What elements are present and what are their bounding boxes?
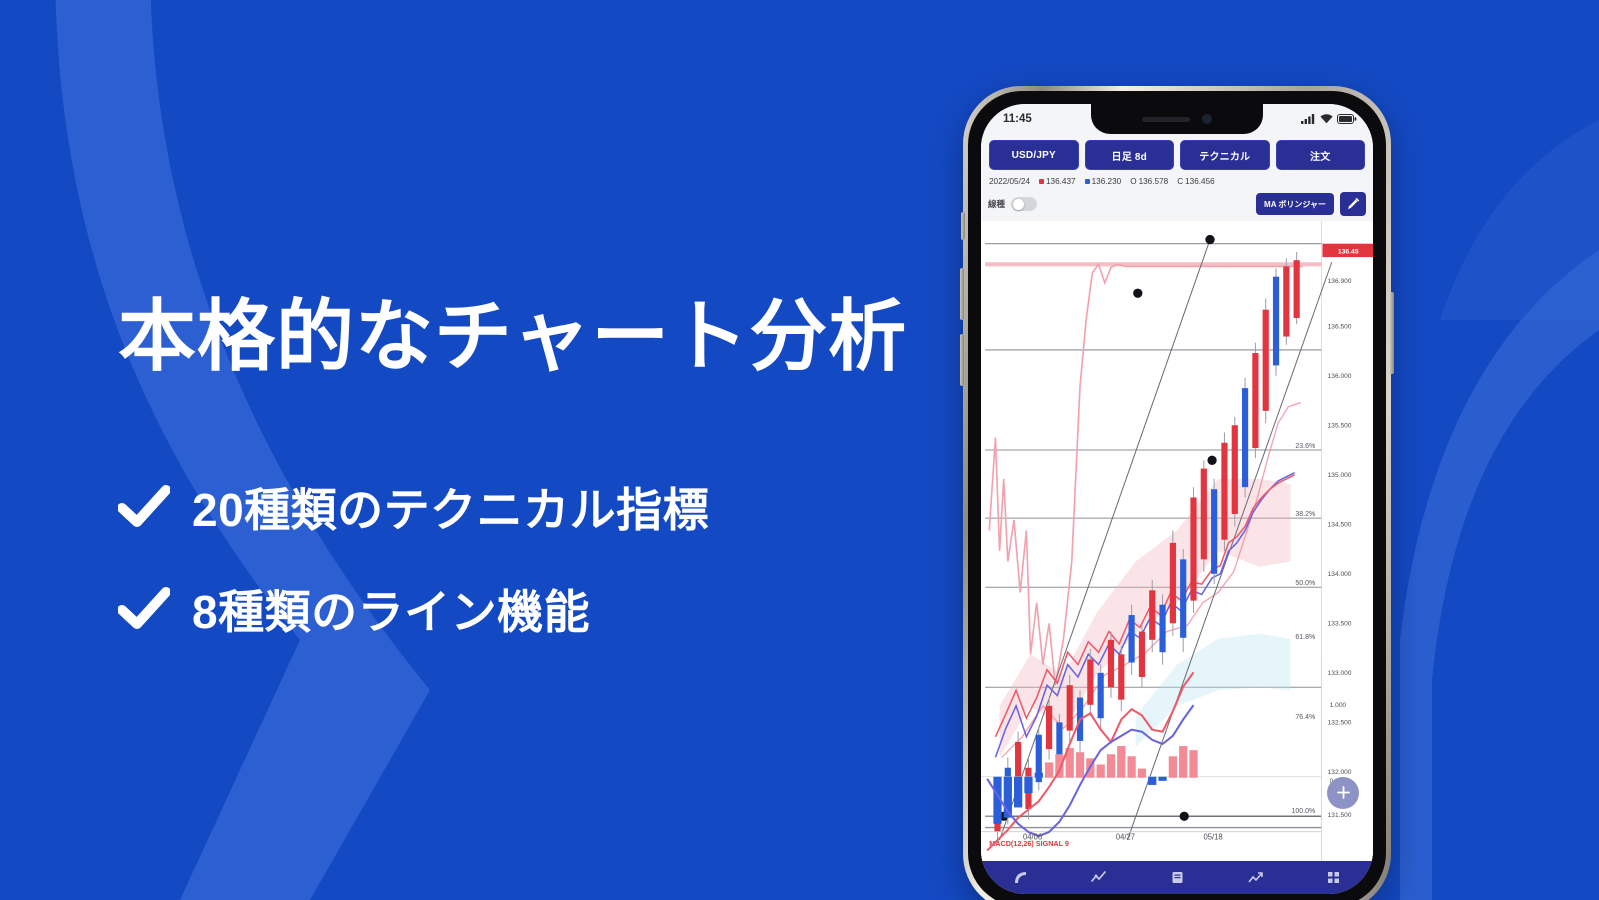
ohlc-close-label: C (1177, 177, 1183, 186)
price-label-4: 135.000 (1328, 472, 1352, 479)
chart-nav-bar: USD/JPY 日足 8d テクニカル 注文 (981, 133, 1373, 176)
symbol-button[interactable]: USD/JPY (989, 140, 1079, 170)
bottom-navigation (981, 861, 1373, 894)
price-label-1: 136.500 (1328, 324, 1352, 331)
technical-button[interactable]: テクニカル (1180, 140, 1270, 170)
date-axis: 04/06 04/27 05/18 (981, 797, 1373, 861)
ohlc-open-label: O (1130, 177, 1136, 186)
marketing-copy: 本格的なチャート分析 20種類のテクニカル指標 8種類のライン機能 (118, 296, 928, 678)
mute-switch[interactable] (961, 212, 965, 240)
nav-order-list[interactable] (1138, 869, 1216, 886)
feature-label-2: 8種類のライン機能 (192, 576, 590, 642)
fib-label-3: 61.8% (1295, 634, 1315, 641)
phone-bezel: 11:45 (968, 91, 1386, 900)
ohlc-open: 136.578 (1139, 177, 1169, 186)
macd-scale-label-0: 1.000 (1330, 702, 1347, 709)
price-label-0: 136.900 (1328, 278, 1352, 285)
current-price-tag: 136.45 (1338, 249, 1359, 256)
nav-news[interactable] (1216, 869, 1294, 886)
trend-handle-top[interactable] (1205, 235, 1214, 244)
date-label-2: 05/18 (1204, 832, 1223, 841)
price-label-5: 134.500 (1328, 522, 1352, 529)
check-icon (118, 586, 170, 632)
battery-icon (1337, 114, 1357, 124)
check-icon (118, 484, 170, 530)
rate-icon (1012, 869, 1029, 886)
toolbar-label: 線種 (988, 198, 1005, 210)
speaker-icon (1142, 117, 1190, 122)
chart-type-toggle[interactable] (1011, 197, 1037, 211)
fib-label-1: 38.2% (1295, 511, 1315, 518)
ohlc-low: 136.230 (1092, 177, 1122, 186)
toggle-knob (1013, 199, 1024, 210)
plus-icon (1336, 785, 1351, 800)
draw-tool-button[interactable] (1340, 192, 1366, 216)
status-time: 11:45 (1003, 113, 1032, 125)
power-button[interactable] (1390, 292, 1394, 374)
ohlc-high: 136.437 (1046, 177, 1076, 186)
chart-icon (1090, 869, 1107, 886)
date-label-0: 04/06 (1023, 832, 1042, 841)
trend-handle-mid[interactable] (1133, 289, 1142, 298)
indicator-chip[interactable]: MA ボリンジャー (1256, 193, 1334, 215)
nav-chart[interactable] (1059, 869, 1137, 886)
wifi-icon (1320, 114, 1333, 124)
price-label-6: 134.000 (1328, 571, 1352, 578)
price-label-3: 135.500 (1328, 423, 1352, 430)
list-item: 8種類のライン機能 (118, 576, 928, 642)
trend-handle-low[interactable] (1207, 456, 1216, 465)
add-indicator-button[interactable] (1327, 777, 1359, 809)
nav-menu[interactable] (1295, 869, 1373, 886)
fib-label-2: 50.0% (1295, 580, 1315, 587)
phone-mockup: 11:45 (963, 86, 1391, 900)
volume-down-button[interactable] (960, 334, 964, 386)
price-label-2: 136.000 (1328, 373, 1352, 380)
news-icon (1247, 869, 1264, 886)
pencil-icon (1346, 197, 1360, 211)
notch (1091, 104, 1263, 134)
ohlc-close: 136.456 (1185, 177, 1215, 186)
volume-up-button[interactable] (960, 268, 964, 320)
fib-label-0: 23.6% (1295, 443, 1315, 450)
phone-screen: 11:45 (981, 104, 1373, 894)
price-label-7: 133.500 (1328, 621, 1352, 628)
ohlc-info-row: 2022/05/24 136.437 136.230 O 136.578 (981, 176, 1373, 189)
low-marker-icon (1085, 179, 1090, 184)
ohlc-date: 2022/05/24 (989, 177, 1030, 186)
high-marker-icon (1039, 179, 1044, 184)
order-list-icon (1169, 869, 1186, 886)
signal-icon (1301, 114, 1316, 124)
camera-icon (1202, 114, 1212, 124)
feature-label-1: 20種類のテクニカル指標 (192, 474, 709, 540)
menu-icon (1325, 869, 1342, 886)
order-button[interactable]: 注文 (1276, 140, 1366, 170)
date-label-1: 04/27 (1116, 832, 1135, 841)
nav-rate[interactable] (981, 869, 1059, 886)
chart-area[interactable]: 23.6% 38.2% 50.0% 61.8% 76.4% 100.0% (981, 221, 1373, 861)
feature-list: 20種類のテクニカル指標 8種類のライン機能 (118, 474, 928, 642)
chart-toolbar: 線種 MA ボリンジャー (981, 189, 1373, 221)
list-item: 20種類のテクニカル指標 (118, 474, 928, 540)
timeframe-button[interactable]: 日足 8d (1085, 140, 1175, 170)
page-title: 本格的なチャート分析 (118, 296, 928, 378)
